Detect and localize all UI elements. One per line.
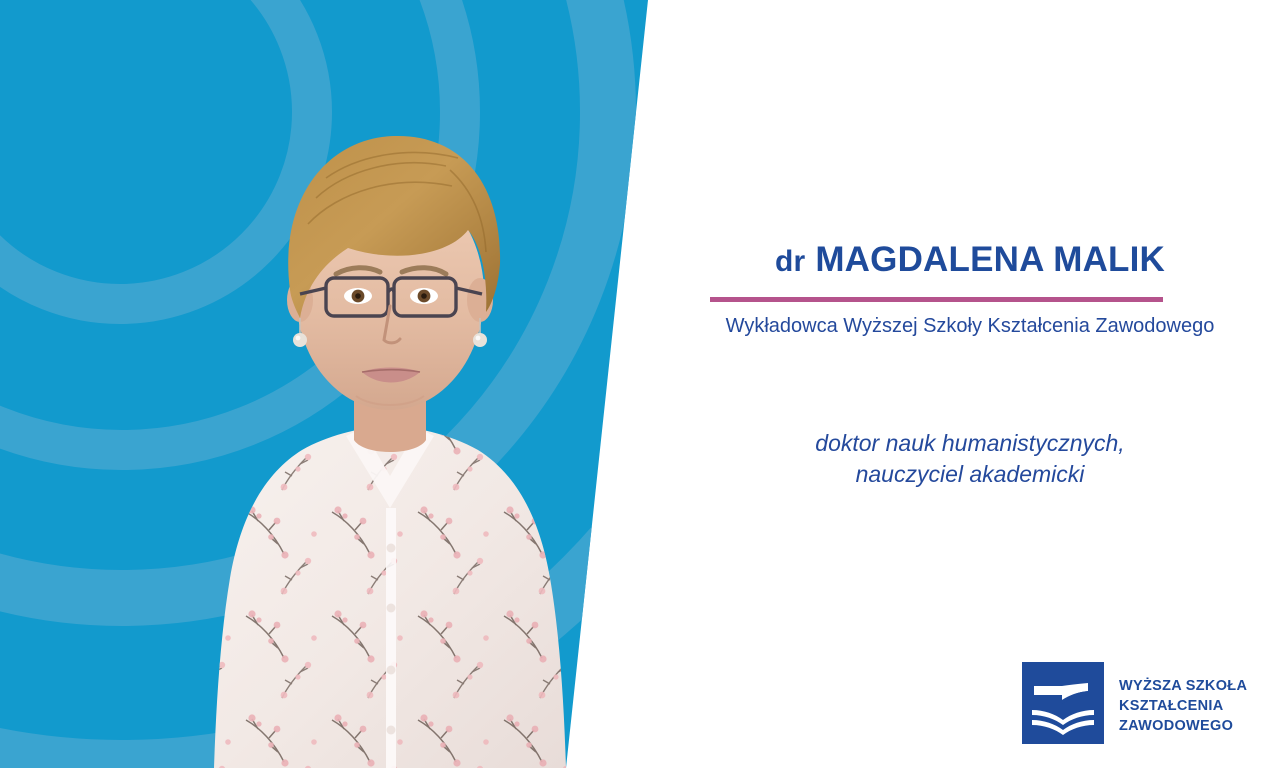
logo-text-line-1: WYŻSZA SZKOŁA: [1119, 677, 1247, 697]
university-logo: WYŻSZA SZKOŁA KSZTAŁCENIA ZAWODOWEGO: [1022, 659, 1250, 747]
speaker-name-prefix: dr: [775, 245, 805, 278]
speaker-description: doktor nauk humanistycznych, nauczyciel …: [660, 428, 1280, 490]
presentation-slide: dr MAGDALENA MALIK Wykładowca Wyższej Sz…: [0, 0, 1280, 768]
logo-text-line-2: KSZTAŁCENIA: [1119, 697, 1247, 717]
speaker-name-text: MAGDALENA MALIK: [815, 240, 1165, 279]
speaker-role-text: Wykładowca Wyższej Szkoły Kształcenia Za…: [660, 315, 1280, 338]
logo-text-line-3: ZAWODOWEGO: [1119, 717, 1247, 737]
description-line-1: doktor nauk humanistycznych,: [660, 428, 1280, 459]
description-line-2: nauczyciel akademicki: [660, 459, 1280, 490]
speaker-name-heading: dr MAGDALENA MALIK: [660, 240, 1280, 280]
speaker-info-panel: dr MAGDALENA MALIK Wykładowca Wyższej Sz…: [660, 0, 1280, 768]
speaker-portrait-photo: [150, 78, 630, 768]
name-underline-divider: [710, 297, 1163, 302]
university-logo-text: WYŻSZA SZKOŁA KSZTAŁCENIA ZAWODOWEGO: [1119, 677, 1247, 737]
open-book-logo-icon: [1022, 662, 1104, 744]
